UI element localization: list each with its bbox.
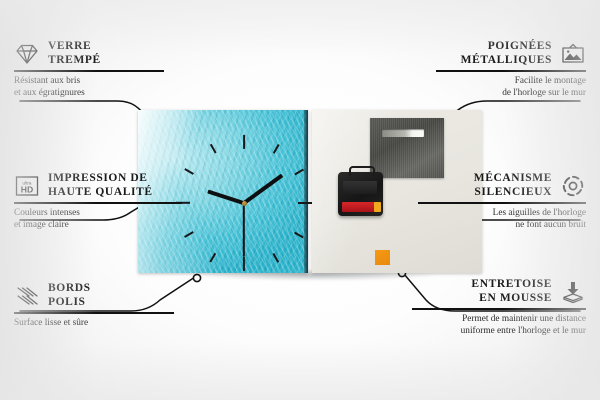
feature-subtitle-line1: Résistant aux bris bbox=[14, 75, 164, 87]
polished-edges-icon bbox=[14, 284, 40, 308]
clock-minute-hand bbox=[243, 174, 283, 205]
battery-positive-terminal bbox=[374, 202, 381, 212]
clock-hour-mark bbox=[185, 231, 194, 237]
feature-title-line1: IMPRESSION DE bbox=[48, 172, 153, 186]
aa-battery bbox=[342, 202, 379, 212]
feature-title-line1: ENTRETOISE bbox=[471, 278, 552, 292]
feature-subtitle: Les aiguilles de l'horloge ne font aucun… bbox=[418, 207, 586, 232]
feature-subtitle-line1: Surface lisse et sûre bbox=[14, 317, 174, 329]
feature-title-line1: BORDS bbox=[48, 282, 91, 296]
metallic-hanger-plate bbox=[370, 118, 444, 178]
feature-subtitle: Permet de maintenir une distance uniform… bbox=[412, 313, 586, 338]
feature-subtitle-line1: Permet de maintenir une distance bbox=[412, 313, 586, 325]
clock-hour-hand bbox=[207, 189, 244, 205]
picture-hanger-icon bbox=[560, 42, 586, 66]
feature-title: BORDS POLIS bbox=[48, 282, 91, 309]
clock-center-cap bbox=[242, 201, 247, 206]
clock-hour-mark bbox=[243, 135, 245, 149]
feature-subtitle-line2: et aux égratignures bbox=[14, 87, 164, 99]
clock-hour-mark bbox=[298, 202, 312, 204]
feature-divider bbox=[412, 308, 586, 309]
clock-hour-mark bbox=[243, 257, 245, 271]
hanger-slot bbox=[382, 129, 424, 137]
feature-callout-mecanisme: MÉCANISME SILENCIEUX Les aiguilles de l'… bbox=[418, 172, 586, 231]
feature-callout-entretoise: ENTRETOISE EN MOUSSE Permet de maintenir… bbox=[412, 278, 586, 337]
feature-title-line1: VERRE bbox=[48, 40, 101, 54]
clock-second-hand bbox=[243, 203, 245, 257]
feature-title: VERRE TREMPÉ bbox=[48, 40, 101, 67]
feature-title-line2: TREMPÉ bbox=[48, 54, 101, 68]
feature-subtitle-line2: et image claire bbox=[14, 219, 182, 231]
foam-spacer-arrow-icon bbox=[560, 280, 586, 304]
feature-divider bbox=[436, 70, 586, 71]
feature-subtitle-line1: Couleurs intenses bbox=[14, 207, 182, 219]
clock-hour-mark bbox=[185, 168, 194, 174]
clock-hour-mark bbox=[272, 144, 278, 153]
quartz-clock-mechanism bbox=[338, 172, 383, 216]
feature-divider bbox=[418, 202, 586, 203]
clock-hour-mark bbox=[294, 231, 303, 237]
feature-title-line2: HAUTE QUALITÉ bbox=[48, 186, 153, 200]
feature-divider bbox=[14, 202, 182, 203]
feature-subtitle-line2: ne font aucun bruit bbox=[418, 219, 586, 231]
feature-callout-bords-polis: BORDS POLIS Surface lisse et sûre bbox=[14, 282, 174, 329]
feature-callout-impression: ultra HD IMPRESSION DE HAUTE QUALITÉ Cou… bbox=[14, 172, 182, 231]
feature-title-line1: POIGNÉES bbox=[461, 40, 552, 54]
feature-title: POIGNÉES MÉTALLIQUES bbox=[461, 40, 552, 67]
orange-foam-spacer bbox=[375, 250, 390, 265]
feature-title: IMPRESSION DE HAUTE QUALITÉ bbox=[48, 172, 153, 199]
mechanism-body-panel bbox=[343, 181, 377, 194]
feature-callout-poignees: POIGNÉES MÉTALLIQUES Facilite le montage… bbox=[436, 40, 586, 99]
gear-icon bbox=[560, 174, 586, 198]
feature-subtitle: Couleurs intenses et image claire bbox=[14, 207, 182, 232]
feature-callout-verre-trempe: VERRE TREMPÉ Résistant aux bris et aux é… bbox=[14, 40, 164, 99]
feature-subtitle-line1: Facilite le montage bbox=[436, 75, 586, 87]
feature-subtitle-line2: de l'horloge sur le mur bbox=[436, 87, 586, 99]
feature-subtitle: Surface lisse et sûre bbox=[14, 317, 174, 329]
feature-title-line2: SILENCIEUX bbox=[474, 186, 552, 200]
feature-subtitle: Résistant aux bris et aux égratignures bbox=[14, 75, 164, 100]
ultra-hd-icon: ultra HD bbox=[14, 174, 40, 198]
feature-title: MÉCANISME SILENCIEUX bbox=[474, 172, 552, 199]
mechanism-hanger-tab bbox=[349, 166, 375, 176]
feature-title: ENTRETOISE EN MOUSSE bbox=[471, 278, 552, 305]
infographic-canvas: VERRE TREMPÉ Résistant aux bris et aux é… bbox=[0, 0, 600, 400]
feature-divider bbox=[14, 70, 164, 71]
svg-text:HD: HD bbox=[21, 184, 33, 194]
clock-hour-mark bbox=[294, 168, 303, 174]
clock-hour-mark bbox=[272, 253, 278, 262]
feature-divider bbox=[14, 312, 174, 313]
feature-title-line2: POLIS bbox=[48, 296, 91, 310]
feature-subtitle: Facilite le montage de l'horloge sur le … bbox=[436, 75, 586, 100]
feature-subtitle-line1: Les aiguilles de l'horloge bbox=[418, 207, 586, 219]
feature-subtitle-line2: uniforme entre l'horloge et le mur bbox=[412, 325, 586, 337]
diamond-icon bbox=[14, 42, 40, 66]
clock-hour-mark bbox=[209, 144, 215, 153]
feature-title-line2: MÉTALLIQUES bbox=[461, 54, 552, 68]
feature-title-line1: MÉCANISME bbox=[474, 172, 552, 186]
clock-hour-mark bbox=[209, 253, 215, 262]
feature-title-line2: EN MOUSSE bbox=[471, 292, 552, 306]
